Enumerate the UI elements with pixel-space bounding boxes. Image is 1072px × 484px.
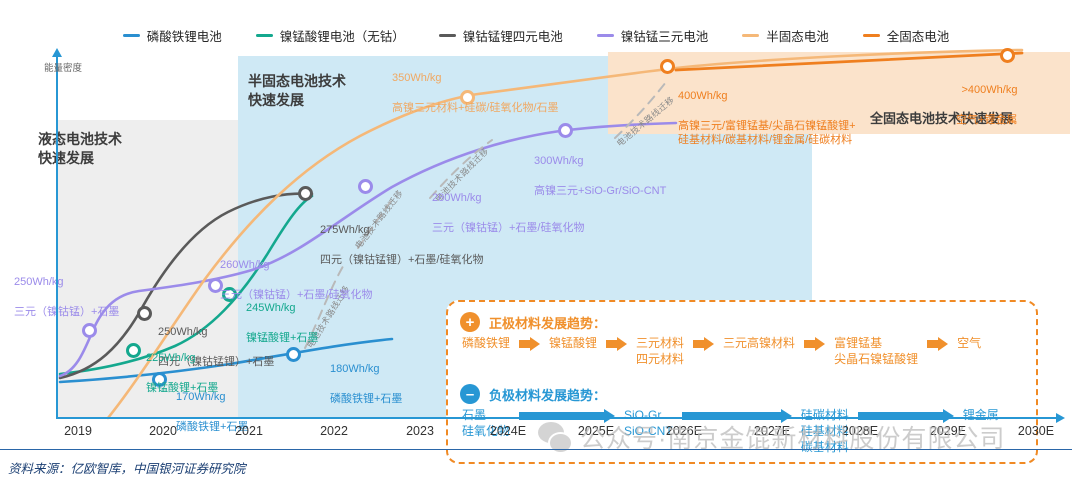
label-material: 四元（镍钴锰锂）+石墨/硅氧化物 xyxy=(320,253,483,268)
x-tick-2027E: 2027E xyxy=(754,424,790,438)
label-material: 三元（镍钴锰）+石墨 xyxy=(14,305,119,320)
label-value: 245Wh/kg xyxy=(246,301,318,316)
x-tick-2020: 2020 xyxy=(149,424,177,438)
arrow-right-icon xyxy=(693,337,714,351)
x-tick-2025E: 2025E xyxy=(578,424,614,438)
cathode-step-3: 三元材料 四元材料 xyxy=(636,333,684,367)
source-note: 资料来源：亿欧智库，中国银河证券研究院 xyxy=(8,458,246,477)
label-semisolid-350: 350Wh/kg 高镍三元材料+硅碳/硅氧化物/石墨 xyxy=(392,56,559,130)
label-material: 磷酸铁锂+石墨 xyxy=(330,392,402,407)
x-tick-2029E: 2029E xyxy=(930,424,966,438)
legend-swatch-ncm xyxy=(597,34,614,37)
label-material: 高镍三元/富锂锰基/尖晶石镍锰酸锂+ 硅基材料/碳基材料/锂金属/硅碳材料 xyxy=(678,119,856,149)
x-tick-2019: 2019 xyxy=(64,424,92,438)
label-ncm-250: 250Wh/kg 三元（镍钴锰）+石墨 xyxy=(14,260,119,334)
label-material: 三元（镍钴锰）+石墨/硅氧化物 xyxy=(432,221,584,236)
arrow-right-icon xyxy=(927,337,948,351)
legend-item-ncm[interactable]: 镍钴锰三元电池 xyxy=(597,26,709,45)
legend-item-lfp[interactable]: 磷酸铁锂电池 xyxy=(123,26,222,45)
cathode-step-5: 富锂锰基 尖晶石镍锰酸锂 xyxy=(834,333,918,367)
label-value: 170Wh/kg xyxy=(176,390,248,405)
label-material: 高镍三元材料+硅碳/硅氧化物/石墨 xyxy=(392,101,559,116)
x-tick-2022: 2022 xyxy=(320,424,348,438)
node-solid-400[interactable] xyxy=(660,59,675,74)
plot-area: 液态电池技术 快速发展 半固态电池技术 快速发展 全固态电池技术快速发展 xyxy=(0,48,1072,428)
label-value: 350Wh/kg xyxy=(392,71,559,86)
legend-label-semisolid: 半固态电池 xyxy=(766,26,829,45)
legend-item-solid[interactable]: 全固态电池 xyxy=(863,26,950,45)
arrow-right-icon xyxy=(519,409,615,423)
arrow-right-icon xyxy=(519,337,540,351)
node-ncm-300[interactable] xyxy=(558,123,573,138)
label-value: 300Wh/kg xyxy=(534,154,666,169)
arrow-right-icon xyxy=(804,337,825,351)
label-solid-400plus: >400Wh/kg 空气+锂金属 xyxy=(956,68,1017,142)
label-value: 400Wh/kg xyxy=(678,89,856,104)
x-tick-2021: 2021 xyxy=(235,424,263,438)
legend-label-ncm: 镍钴锰三元电池 xyxy=(621,26,709,45)
arrow-right-icon xyxy=(682,409,792,423)
legend-swatch-lnmo xyxy=(256,34,273,37)
cathode-trend-flow: 磷酸铁锂 镍锰酸锂 三元材料 四元材料 三元高镍材料 富锂锰基 尖晶石镍锰酸锂 … xyxy=(460,333,1024,383)
legend-swatch-quaternary xyxy=(439,34,456,37)
cathode-step-4: 三元高镍材料 xyxy=(723,333,795,351)
label-value: 180Wh/kg xyxy=(330,362,402,377)
plus-icon: + xyxy=(460,312,480,332)
x-tick-2026E: 2026E xyxy=(666,424,702,438)
node-solid-400plus[interactable] xyxy=(1000,48,1015,63)
cathode-step-2: 镍锰酸锂 xyxy=(549,333,597,351)
cathode-step-1: 磷酸铁锂 xyxy=(462,333,510,351)
legend-swatch-semisolid xyxy=(742,34,759,37)
x-tick-2030E: 2030E xyxy=(1018,424,1054,438)
x-tick-2028E: 2028E xyxy=(842,424,878,438)
legend-item-quaternary[interactable]: 镍钴锰锂四元电池 xyxy=(439,26,563,45)
legend-item-lnmo[interactable]: 镍锰酸锂电池（无钴） xyxy=(256,26,405,45)
node-ncm-280[interactable] xyxy=(358,179,373,194)
legend-label-lfp: 磷酸铁锂电池 xyxy=(147,26,222,45)
footer-divider xyxy=(0,449,1072,450)
node-quaternary-250[interactable] xyxy=(137,306,152,321)
chart-root: 磷酸铁锂电池 镍锰酸锂电池（无钴） 镍钴锰锂四元电池 镍钴锰三元电池 半固态电池… xyxy=(0,0,1072,484)
label-lnmo-245: 245Wh/kg 镍锰酸锂+石墨 xyxy=(246,286,318,360)
legend-swatch-lfp xyxy=(123,34,140,37)
y-axis xyxy=(56,57,58,419)
label-material: 高镍三元+SiO-Gr/SiO-CNT xyxy=(534,184,666,199)
minus-icon: – xyxy=(460,384,480,404)
chart-legend: 磷酸铁锂电池 镍锰酸锂电池（无钴） 镍钴锰锂四元电池 镍钴锰三元电池 半固态电池… xyxy=(0,22,1072,48)
node-lnmo-225[interactable] xyxy=(126,343,141,358)
arrow-right-icon xyxy=(606,337,627,351)
arrow-right-icon xyxy=(858,409,954,423)
label-solid-400: 400Wh/kg 高镍三元/富锂锰基/尖晶石镍锰酸锂+ 硅基材料/碳基材料/锂金… xyxy=(678,74,856,163)
x-axis xyxy=(56,417,1056,419)
cathode-step-6: 空气 xyxy=(957,333,981,351)
legend-item-semisolid[interactable]: 半固态电池 xyxy=(742,26,829,45)
y-axis-label: 能量密度 xyxy=(44,60,82,74)
anode-trend-title: 负极材料发展趋势： xyxy=(489,385,606,404)
x-tick-2023: 2023 xyxy=(406,424,434,438)
label-material: 镍锰酸锂+石墨 xyxy=(246,331,318,346)
legend-label-lnmo: 镍锰酸锂电池（无钴） xyxy=(280,26,405,45)
legend-label-solid: 全固态电池 xyxy=(887,26,950,45)
label-ncm-300: 300Wh/kg 高镍三元+SiO-Gr/SiO-CNT xyxy=(534,139,666,213)
cathode-trend-title: 正极材料发展趋势： xyxy=(489,313,606,332)
label-lfp-180: 180Wh/kg 磷酸铁锂+石墨 xyxy=(330,347,402,421)
legend-label-quaternary: 镍钴锰锂四元电池 xyxy=(463,26,563,45)
label-value: 225Wh/kg xyxy=(146,351,218,366)
legend-swatch-solid xyxy=(863,34,880,37)
label-value: 250Wh/kg xyxy=(14,275,119,290)
label-material: 空气+锂金属 xyxy=(956,113,1017,128)
node-quaternary-275[interactable] xyxy=(298,186,313,201)
anode-trend-header: – 负极材料发展趋势： xyxy=(460,383,1024,405)
cathode-trend-header: + 正极材料发展趋势： xyxy=(460,311,1024,333)
x-tick-2024E: 2024E xyxy=(490,424,526,438)
x-axis-ticks: 2019 2020 2021 2022 2023 2024E 2025E 202… xyxy=(0,424,1072,446)
anode-step-4: 锂金属 xyxy=(963,405,999,423)
label-value: >400Wh/kg xyxy=(956,83,1017,98)
